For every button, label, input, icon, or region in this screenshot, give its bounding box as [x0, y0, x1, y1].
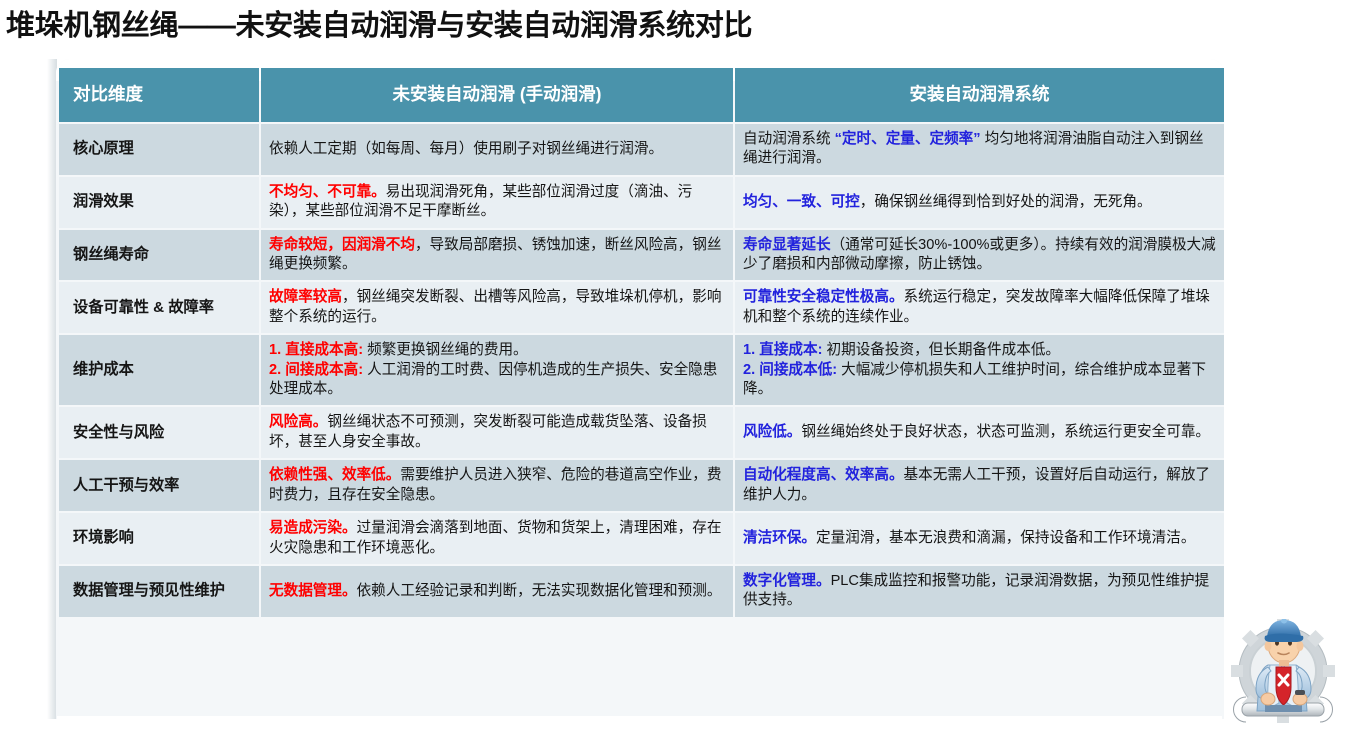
row-cell-auto: 1. 直接成本: 初期设备投资，但长期备件成本低。2. 间接成本低: 大幅减少停… [735, 335, 1224, 405]
text-segment: 自动化程度高、效率高。 [743, 467, 904, 483]
mechanic-mascot-logo [1216, 619, 1351, 737]
row-cell-manual: 易造成污染。过量润滑会滴落到地面、货物和货架上，清理困难，存在火灾隐患和工作环境… [261, 513, 733, 564]
table-row: 维护成本1. 直接成本高: 频繁更换钢丝绳的费用。2. 间接成本高: 人工润滑的… [59, 335, 1224, 405]
row-cell-manual: 无数据管理。依赖人工经验记录和判断，无法实现数据化管理和预测。 [261, 566, 733, 617]
row-cell-manual: 故障率较高，钢丝绳突发断裂、出槽等风险高，导致堆垛机停机，影响整个系统的运行。 [261, 282, 733, 333]
row-cell-auto: 寿命显著延长（通常可延长30%-100%或更多）。持续有效的润滑膜极大减少了磨损… [735, 230, 1224, 281]
text-segment: 初期设备投资，但长期备件成本低。 [822, 342, 1060, 358]
table-row: 核心原理依赖人工定期（如每周、每月）使用刷子对钢丝绳进行润滑。自动润滑系统 “定… [59, 124, 1224, 175]
row-cell-manual: 不均匀、不可靠。易出现润滑死角，某些部位润滑过度（滴油、污染），某些部位润滑不足… [261, 177, 733, 228]
row-cell-auto: 均匀、一致、可控，确保钢丝绳得到恰到好处的润滑，无死角。 [735, 177, 1224, 228]
row-dimension-label: 润滑效果 [59, 177, 259, 228]
text-segment: 依赖人工经验记录和判断，无法实现数据化管理和预测。 [357, 583, 722, 599]
text-segment: 数字化管理。 [743, 573, 831, 589]
header-manual: 未安装自动润滑 (手动润滑) [261, 68, 733, 122]
text-segment: 1. 直接成本: [743, 342, 822, 358]
text-segment: 风险高。 [269, 414, 327, 430]
row-dimension-label: 维护成本 [59, 335, 259, 405]
row-cell-manual: 依赖性强、效率低。需要维护人员进入狭窄、危险的巷道高空作业，费时费力，且存在安全… [261, 460, 733, 511]
header-auto: 安装自动润滑系统 [735, 68, 1224, 122]
text-segment: 2. 间接成本高: [269, 362, 363, 378]
row-dimension-label: 环境影响 [59, 513, 259, 564]
text-segment: 寿命显著延长 [743, 237, 831, 253]
text-segment: 定量润滑，基本无浪费和滴漏，保持设备和工作环境清洁。 [816, 530, 1195, 546]
row-dimension-label: 人工干预与效率 [59, 460, 259, 511]
table-row: 钢丝绳寿命寿命较短，因润滑不均，导致局部磨损、锈蚀加速，断丝风险高，钢丝绳更换频… [59, 230, 1224, 281]
text-segment: 自动润滑系统 [743, 131, 835, 147]
row-cell-auto: 清洁环保。定量润滑，基本无浪费和滴漏，保持设备和工作环境清洁。 [735, 513, 1224, 564]
text-segment: 钢丝绳状态不可预测，突发断裂可能造成载货坠落、设备损坏，甚至人身安全事故。 [269, 414, 707, 449]
text-segment: ，确保钢丝绳得到恰到好处的润滑，无死角。 [860, 194, 1152, 210]
table-row: 润滑效果不均匀、不可靠。易出现润滑死角，某些部位润滑过度（滴油、污染），某些部位… [59, 177, 1224, 228]
row-cell-manual: 依赖人工定期（如每周、每月）使用刷子对钢丝绳进行润滑。 [261, 124, 733, 175]
table-row: 人工干预与效率依赖性强、效率低。需要维护人员进入狭窄、危险的巷道高空作业，费时费… [59, 460, 1224, 511]
row-cell-auto: 自动化程度高、效率高。基本无需人工干预，设置好后自动运行，解放了维护人力。 [735, 460, 1224, 511]
text-segment: 无数据管理。 [269, 583, 357, 599]
table-row: 设备可靠性 & 故障率故障率较高，钢丝绳突发断裂、出槽等风险高，导致堆垛机停机，… [59, 282, 1224, 333]
text-segment: 频繁更换钢丝绳的费用。 [363, 342, 528, 358]
row-cell-auto: 数字化管理。PLC集成监控和报警功能，记录润滑数据，为预见性维护提供支持。 [735, 566, 1224, 617]
text-segment: 易造成污染。 [269, 520, 357, 536]
text-segment: 风险低。 [743, 424, 801, 440]
header-dimension: 对比维度 [59, 68, 259, 122]
row-cell-manual: 1. 直接成本高: 频繁更换钢丝绳的费用。2. 间接成本高: 人工润滑的工时费、… [261, 335, 733, 405]
row-cell-auto: 自动润滑系统 “定时、定量、定频率” 均匀地将润滑油脂自动注入到钢丝绳进行润滑。 [735, 124, 1224, 175]
text-segment: 依赖人工定期（如每周、每月）使用刷子对钢丝绳进行润滑。 [269, 141, 663, 157]
text-segment: 寿命较短，因润滑不均 [269, 237, 415, 253]
text-segment: 不均匀、不可靠。 [269, 184, 386, 200]
text-segment: “定时、定量、定频率” [835, 131, 981, 147]
text-segment: 均匀、一致、可控 [743, 194, 860, 210]
row-dimension-label: 设备可靠性 & 故障率 [59, 282, 259, 333]
table-header-row: 对比维度 未安装自动润滑 (手动润滑) 安装自动润滑系统 [59, 68, 1224, 122]
comparison-table: 对比维度 未安装自动润滑 (手动润滑) 安装自动润滑系统 核心原理依赖人工定期（… [57, 66, 1226, 619]
table-row: 安全性与风险风险高。钢丝绳状态不可预测，突发断裂可能造成载货坠落、设备损坏，甚至… [59, 407, 1224, 458]
page-title: 堆垛机钢丝绳——未安装自动润滑与安装自动润滑系统对比 [6, 2, 752, 44]
row-cell-manual: 风险高。钢丝绳状态不可预测，突发断裂可能造成载货坠落、设备损坏，甚至人身安全事故… [261, 407, 733, 458]
row-dimension-label: 钢丝绳寿命 [59, 230, 259, 281]
text-segment: 可靠性安全稳定性极高。 [743, 289, 904, 305]
row-cell-auto: 可靠性安全稳定性极高。系统运行稳定，突发故障率大幅降低保障了堆垛机和整个系统的连… [735, 282, 1224, 333]
row-dimension-label: 安全性与风险 [59, 407, 259, 458]
row-dimension-label: 数据管理与预见性维护 [59, 566, 259, 617]
table-body: 核心原理依赖人工定期（如每周、每月）使用刷子对钢丝绳进行润滑。自动润滑系统 “定… [59, 124, 1224, 617]
text-segment: 故障率较高 [269, 289, 342, 305]
row-dimension-label: 核心原理 [59, 124, 259, 175]
row-cell-auto: 风险低。钢丝绳始终处于良好状态，状态可监测，系统运行更安全可靠。 [735, 407, 1224, 458]
table-row: 环境影响易造成污染。过量润滑会滴落到地面、货物和货架上，清理困难，存在火灾隐患和… [59, 513, 1224, 564]
text-segment: 钢丝绳始终处于良好状态，状态可监测，系统运行更安全可靠。 [801, 424, 1210, 440]
table-row: 数据管理与预见性维护无数据管理。依赖人工经验记录和判断，无法实现数据化管理和预测… [59, 566, 1224, 617]
table-footer-strip [57, 716, 1222, 737]
text-segment: 1. 直接成本高: [269, 342, 363, 358]
text-segment: 2. 间接成本低: [743, 362, 837, 378]
row-cell-manual: 寿命较短，因润滑不均，导致局部磨损、锈蚀加速，断丝风险高，钢丝绳更换频繁。 [261, 230, 733, 281]
text-segment: 依赖性强、效率低。 [269, 467, 400, 483]
slide-canvas: 堆垛机钢丝绳——未安装自动润滑与安装自动润滑系统对比 对比维度 未安装自动润滑 … [0, 0, 1351, 737]
text-segment: 清洁环保。 [743, 530, 816, 546]
